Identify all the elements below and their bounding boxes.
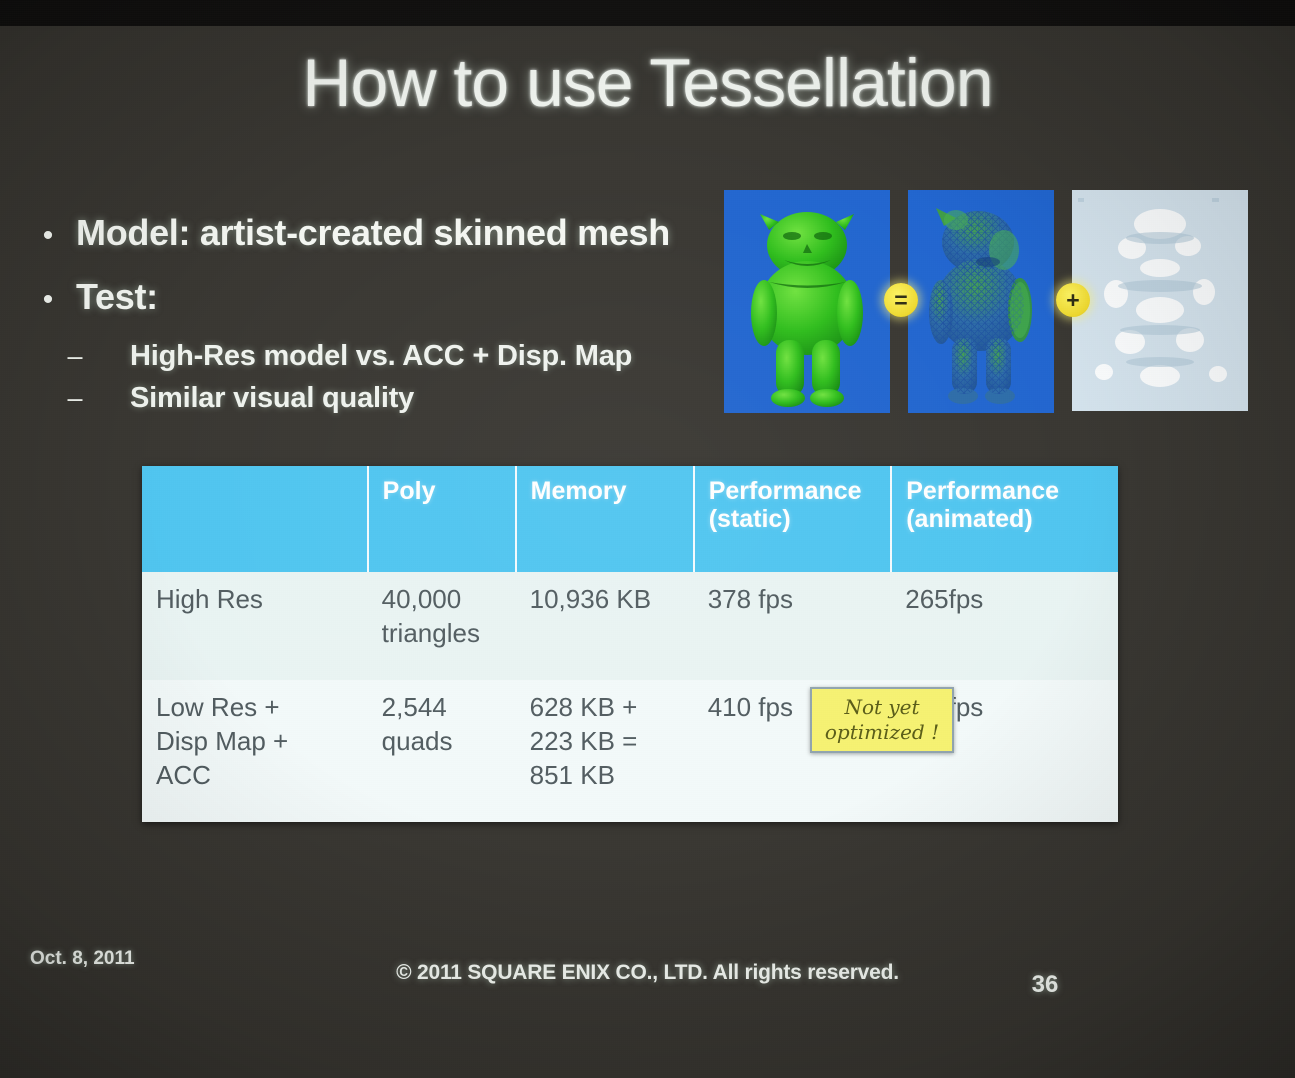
green-creature-icon — [724, 190, 890, 413]
dash-marker-icon: – — [20, 385, 130, 412]
cell-memory: 10,936 KB — [516, 572, 694, 680]
cell-row-name: Low Res + Disp Map + ACC — [142, 680, 368, 822]
table-row: High Res 40,000 triangles 10,936 KB 378 … — [142, 572, 1118, 680]
table-row: Low Res + Disp Map + ACC 2,544 quads 628… — [142, 680, 1118, 822]
bullet-list: • Model: artist-created skinned mesh • T… — [20, 212, 720, 424]
bullet-text: Test: — [76, 276, 158, 318]
high-res-model-render — [724, 190, 890, 413]
table-body: High Res 40,000 triangles 10,936 KB 378 … — [142, 572, 1118, 822]
displacement-map-texture — [1072, 190, 1248, 411]
wireframe-creature-icon — [908, 190, 1054, 413]
cell-poly: 40,000 triangles — [368, 572, 516, 680]
column-header-blank — [142, 466, 368, 572]
performance-comparison-table: Poly Memory Performance (static) Perform… — [142, 466, 1118, 822]
table-header-row: Poly Memory Performance (static) Perform… — [142, 466, 1118, 572]
bullet-text: Model: artist-created skinned mesh — [76, 212, 670, 254]
table-header: Poly Memory Performance (static) Perform… — [142, 466, 1118, 572]
page-title: How to use Tessellation — [0, 44, 1295, 122]
column-header-performance-animated: Performance (animated) — [891, 466, 1118, 572]
sub-bullet-text: High-Res model vs. ACC + Disp. Map — [130, 340, 632, 373]
column-header-memory: Memory — [516, 466, 694, 572]
cell-memory: 628 KB + 223 KB = 851 KB — [516, 680, 694, 822]
cell-performance-static: 378 fps — [694, 572, 892, 680]
displacement-map-icon — [1072, 190, 1248, 411]
column-header-performance-static: Performance (static) — [694, 466, 892, 572]
dash-marker-icon: – — [20, 343, 130, 370]
sub-bullet-item-high-res-vs-acc: – High-Res model vs. ACC + Disp. Map — [20, 340, 720, 373]
sub-bullet-text: Similar visual quality — [130, 382, 414, 415]
slide-footer: Oct. 8, 2011 © 2011 SQUARE ENIX CO., LTD… — [0, 948, 1295, 1008]
plus-badge-icon: + — [1056, 283, 1090, 317]
not-yet-optimized-callout: Not yet optimized ! — [810, 687, 954, 753]
cell-row-name: High Res — [142, 572, 368, 680]
callout-line-1: Not yet — [844, 695, 919, 720]
equals-badge-icon: = — [884, 283, 918, 317]
footer-page-number: 36 — [1010, 971, 1080, 999]
bullet-item-model: • Model: artist-created skinned mesh — [20, 212, 720, 254]
column-header-poly: Poly — [368, 466, 516, 572]
sub-bullet-item-similar-quality: – Similar visual quality — [20, 382, 720, 415]
bullet-marker-icon: • — [20, 285, 76, 315]
cell-poly: 2,544 quads — [368, 680, 516, 822]
footer-copyright: © 2011 SQUARE ENIX CO., LTD. All rights … — [0, 961, 1295, 985]
presentation-slide-photo: How to use Tessellation • Model: artist-… — [0, 0, 1295, 1078]
bullet-marker-icon: • — [20, 221, 76, 251]
cell-performance-animated: 265fps — [891, 572, 1118, 680]
photo-top-dark-band — [0, 0, 1295, 26]
bullet-item-test: • Test: — [20, 276, 720, 318]
callout-line-2: optimized ! — [825, 720, 939, 745]
tessellated-wireframe-render — [908, 190, 1054, 413]
